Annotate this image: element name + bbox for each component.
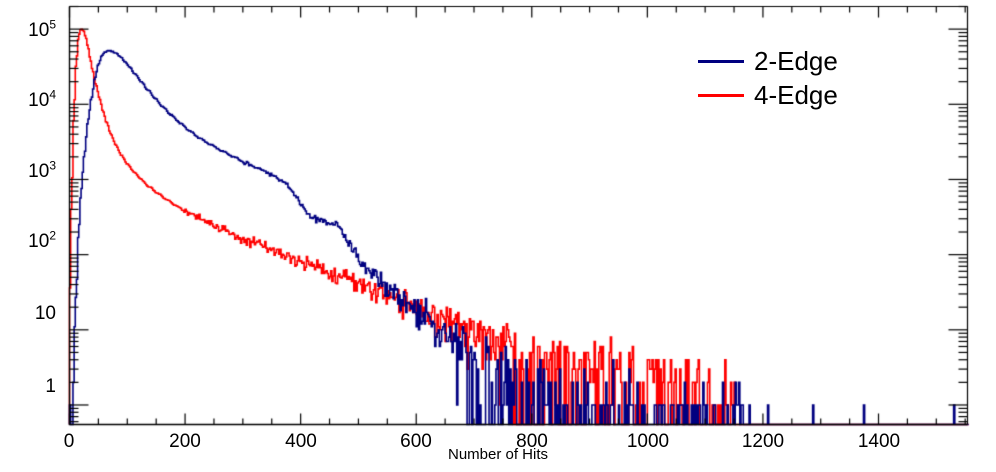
legend-label-4-edge: 4-Edge	[754, 82, 838, 108]
legend-swatch-4-edge	[698, 94, 744, 97]
legend-entry-4-edge: 4-Edge	[698, 78, 938, 112]
legend-swatch-2-edge	[698, 60, 744, 63]
legend-label-2-edge: 2-Edge	[754, 48, 838, 74]
histogram-plot: 1 10 102 103 104 105 0 200 400 600 800 1…	[0, 0, 996, 472]
legend: 2-Edge 4-Edge	[698, 44, 938, 112]
legend-entry-2-edge: 2-Edge	[698, 44, 938, 78]
